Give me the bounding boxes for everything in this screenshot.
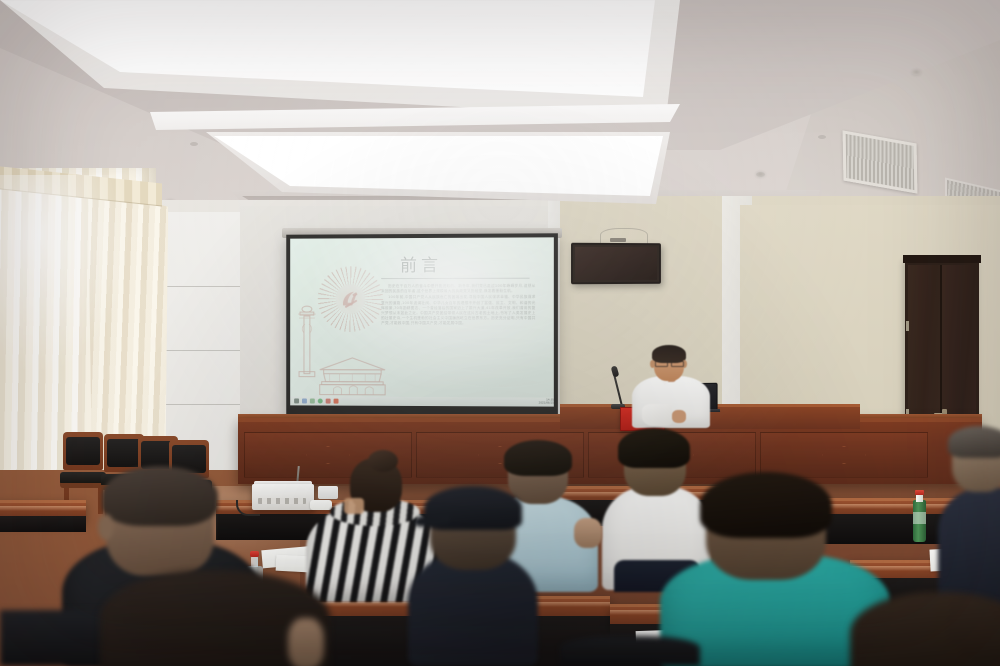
attendee-front-left-low[interactable]: [100, 560, 330, 666]
podium-panel: [760, 432, 928, 478]
podium-diamond-inlay: [822, 446, 866, 464]
presenter-arm: [642, 404, 672, 426]
smoke-detector-icon: [190, 142, 198, 146]
door-hinge-icon: [906, 321, 909, 331]
slide-paragraph: 100年前,中国共产党人从民族危亡的困境出发,寻找中国人民谋求幸福、中华民族谋求…: [381, 295, 535, 326]
attendee-arm: [574, 518, 602, 548]
slide-body-text: 历史在千百万人的奋斗中是开拓进取的、新冬年,我们党已走过100年峥嵘岁月,这然从…: [381, 284, 535, 328]
browser-icon[interactable]: [318, 399, 323, 404]
attendee-ear: [98, 514, 114, 540]
attendee-neck: [344, 498, 364, 514]
wall-mounted-display[interactable]: [571, 243, 661, 284]
start-icon[interactable]: [294, 398, 299, 403]
presenter[interactable]: [628, 346, 724, 424]
downlight-icon: [912, 70, 921, 75]
attendee-cap[interactable]: [408, 486, 538, 666]
party-emblem-icon: [314, 266, 387, 332]
display-screen-surface: [575, 247, 657, 280]
attendee-hair: [504, 440, 572, 476]
attendee-suit[interactable]: [938, 430, 1000, 610]
attendee-hair: [850, 592, 1000, 666]
attendee-hair: [102, 466, 218, 526]
attendee-shoulder: [560, 636, 700, 666]
attendee-ear: [288, 618, 324, 666]
powerpoint-icon[interactable]: [334, 399, 339, 404]
clock-date: 2021/06/15: [539, 402, 554, 405]
attendee-hair: [700, 472, 832, 538]
slide-title: 前言: [400, 251, 442, 276]
projector-ports: [258, 498, 306, 504]
taskbar-clock[interactable]: 14:35 2021/06/15: [539, 399, 554, 405]
conference-room-photo: 前言 历史在千百万人的奋斗中是开拓进取的、新冬年,我们党已走过100年峥嵘岁月,…: [0, 0, 1000, 666]
tiananmen-gate-icon: [314, 350, 391, 398]
slide-paragraph: 历史在千百万人的奋斗中是开拓进取的、新冬年,我们党已走过100年峥嵘岁月,这然从…: [381, 284, 535, 295]
slide-title-underline: [381, 278, 529, 279]
slide-surface: 前言 历史在千百万人的奋斗中是开拓进取的、新冬年,我们党已走过100年峥嵘岁月,…: [290, 237, 554, 406]
green-bottle-label: [913, 512, 926, 524]
attendee-hair-bun: [368, 450, 398, 472]
green-bottle-cap: [915, 490, 924, 495]
windows-taskbar[interactable]: 14:35 2021/06/15: [290, 396, 554, 406]
hammer-sickle-icon: [340, 288, 362, 310]
attendee-hair: [948, 426, 1000, 458]
door-lintel: [903, 255, 981, 263]
glasses-icon: [671, 361, 684, 367]
chair-backrest-pad: [66, 437, 100, 465]
glasses-bridge: [666, 362, 671, 363]
tv-bracket: [610, 238, 626, 242]
projection-screen[interactable]: 前言 历史在千百万人的奋斗中是开拓进取的、新冬年,我们党已走过100年峥嵘岁月,…: [286, 233, 558, 416]
attendee-ear: [204, 518, 219, 542]
green-bottle-neck: [916, 494, 923, 502]
folder-icon[interactable]: [310, 399, 315, 404]
downlight-icon: [756, 172, 765, 177]
presenter-hand: [672, 410, 686, 423]
media-icon[interactable]: [326, 399, 331, 404]
smoke-detector-icon: [818, 135, 826, 139]
attendee-hair: [618, 428, 690, 468]
search-icon[interactable]: [302, 398, 307, 403]
attendee-right-edge[interactable]: [850, 586, 1000, 666]
